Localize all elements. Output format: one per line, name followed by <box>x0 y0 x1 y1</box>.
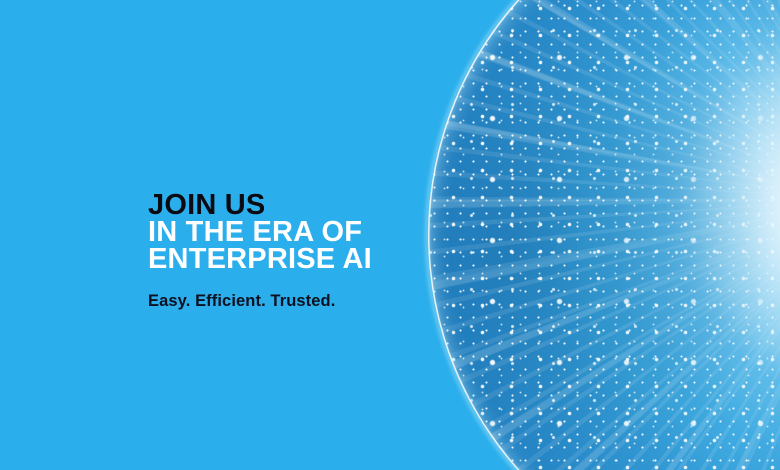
promo-banner: JOIN US IN THE ERA OF ENTERPRISE AI Easy… <box>0 0 780 470</box>
headline-line-1: JOIN US <box>148 192 372 219</box>
headline-line-3: ENTERPRISE AI <box>148 246 372 273</box>
background-field <box>0 0 780 470</box>
headline-block: JOIN US IN THE ERA OF ENTERPRISE AI Easy… <box>148 192 372 311</box>
tagline: Easy. Efficient. Trusted. <box>148 291 372 311</box>
headline-line-2: IN THE ERA OF <box>148 219 372 246</box>
